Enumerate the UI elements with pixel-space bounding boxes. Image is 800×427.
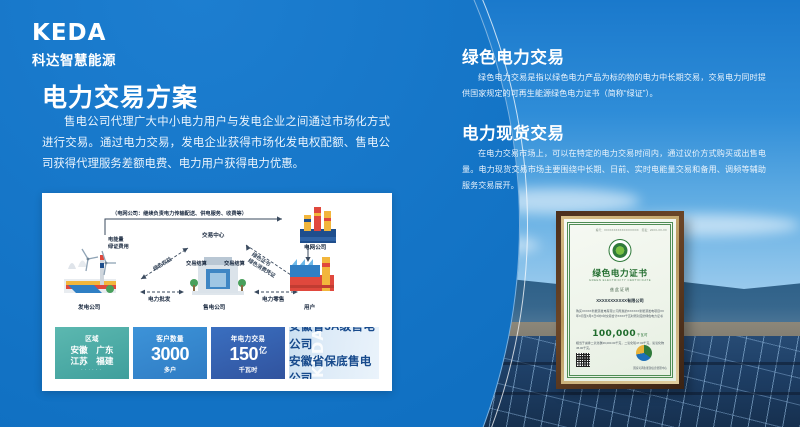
diagram-label-settle-right: 交易结算 — [224, 261, 245, 268]
diagram-node-grid: 电网公司 — [304, 245, 326, 252]
certificate-frame-gold: 编号：XXXXXXXXXXXXXXXXXX 签发：20XX-XX-XX 绿色电力… — [561, 216, 679, 384]
stat-volume-unit: 亿 — [259, 346, 267, 355]
stat-customers-value: 3000 — [151, 345, 189, 363]
stat-customers: 客户数量 3000 多户 — [133, 327, 207, 379]
icon-grid-company — [300, 207, 336, 243]
stat-qualifications: KEDA 安徽省3A级售电公司 安徽省保底售电公司 — [289, 327, 379, 379]
certificate-paper: 编号：XXXXXXXXXXXXXXXXXX 签发：20XX-XX-XX 绿色电力… — [564, 219, 676, 381]
certificate-amount-wrap: 100,000千瓦时 — [564, 329, 676, 339]
certificate-frame-outer: 编号：XXXXXXXXXXXXXXXXXX 签发：20XX-XX-XX 绿色电力… — [556, 211, 684, 389]
certificate-seal-icon — [609, 239, 632, 262]
section-body-green-power: 绿色电力交易是指以绿色电力产品为标的物的电力中长期交易，交易电力同时提供国家规定… — [462, 70, 766, 102]
content-card: （电网公司：继续负责电力传输配送、供电服务、收费等） 电能量绿证费用 交易中心 … — [42, 193, 392, 391]
stat-region-line1: 安徽 广东 — [71, 345, 114, 356]
stat-region-caption: 区域 — [85, 333, 99, 343]
section-body-spot-trading: 在电力交易市场上，可以在特定的电力交易时间内，通过议价方式购买或出售电量。电力现… — [462, 146, 766, 193]
certificate-body: 购买XXXXX新能源发电有限公司所属的XXXXXX新能源发电项目XX年X月至X月… — [576, 309, 664, 319]
certificate-subtitle: 兹此证明 — [564, 287, 676, 293]
green-certificate: 编号：XXXXXXXXXXXXXXXXXX 签发：20XX-XX-XX 绿色电力… — [556, 211, 684, 389]
stat-customers-caption: 客户数量 — [156, 333, 184, 343]
certificate-issuer: 国家可再生能源信息管理中心 — [633, 366, 667, 370]
stat-region: 区域 安徽 广东 江苏 福建 ······ — [55, 327, 129, 379]
diagram-label-energy-fee: 电能量绿证费用 — [108, 237, 129, 250]
icon-generation-company — [64, 249, 116, 293]
diagram-flow-retail: 电力零售 — [262, 297, 284, 304]
logo-name-cn: 科达智慧能源 — [32, 49, 116, 69]
brand-logo: KEDA 科达智慧能源 — [32, 22, 116, 69]
qualification-line-1: 安徽省3A级售电公司 — [289, 327, 379, 353]
section-heading-spot-trading: 电力现货交易 — [462, 120, 565, 144]
diagram-node-generation: 发电公司 — [78, 305, 100, 312]
qr-code-icon — [576, 353, 590, 367]
page-title: 电力交易方案 — [42, 78, 198, 114]
certificate-title-en: GREEN ELECTRICITY CERTIFICATE — [564, 278, 676, 282]
stat-volume-foot: 千瓦时 — [239, 365, 258, 374]
stat-volume-value: 150 — [229, 344, 258, 364]
slide-canvas: KEDA 科达智慧能源 电力交易方案 售电公司代理广大中小电力用户与发电企业之间… — [0, 0, 800, 427]
stat-region-dots: ······ — [81, 367, 103, 373]
diagram-label-settle-left: 交易结算 — [186, 261, 207, 268]
power-trading-diagram: （电网公司：继续负责电力传输配送、供电服务、收费等） 电能量绿证费用 交易中心 … — [42, 193, 392, 325]
stat-volume-value-wrap: 150亿 — [229, 345, 266, 363]
icon-user-factory — [290, 257, 334, 291]
section-heading-green-power: 绿色电力交易 — [462, 44, 565, 68]
diagram-node-retail: 售电公司 — [203, 305, 225, 312]
certificate-serial: 编号：XXXXXXXXXXXXXXXXXX 签发：20XX-XX-XX — [596, 228, 667, 232]
certificate-amount-unit: 千瓦时 — [637, 333, 648, 337]
stat-region-line2: 江苏 福建 — [71, 356, 114, 367]
stat-annual-volume: 年电力交易 150亿 千瓦时 — [211, 327, 285, 379]
certificate-amount: 100,000 — [592, 329, 636, 339]
diagram-flow-wholesale: 电力批发 — [148, 297, 170, 304]
intro-paragraph: 售电公司代理广大中小电力用户与发电企业之间通过市场化方式进行交易。通过电力交易，… — [42, 112, 390, 175]
issuer-logo-icon — [636, 345, 652, 361]
certificate-company: XXXXXXXXXXX有限公司 — [564, 298, 676, 304]
stat-volume-caption: 年电力交易 — [231, 333, 265, 343]
stat-customers-foot: 多户 — [164, 365, 176, 374]
diagram-note-top: （电网公司：继续负责电力传输配送、供电服务、收费等） — [112, 211, 247, 218]
logo-wordmark: KEDA — [32, 22, 116, 45]
stats-strip: 区域 安徽 广东 江苏 福建 ······ 客户数量 3000 多户 年电力交易… — [55, 327, 379, 379]
diagram-label-center: 交易中心 — [202, 233, 224, 240]
qualification-line-2: 安徽省保底售电公司 — [289, 353, 379, 379]
diagram-node-user: 用户 — [304, 305, 315, 312]
